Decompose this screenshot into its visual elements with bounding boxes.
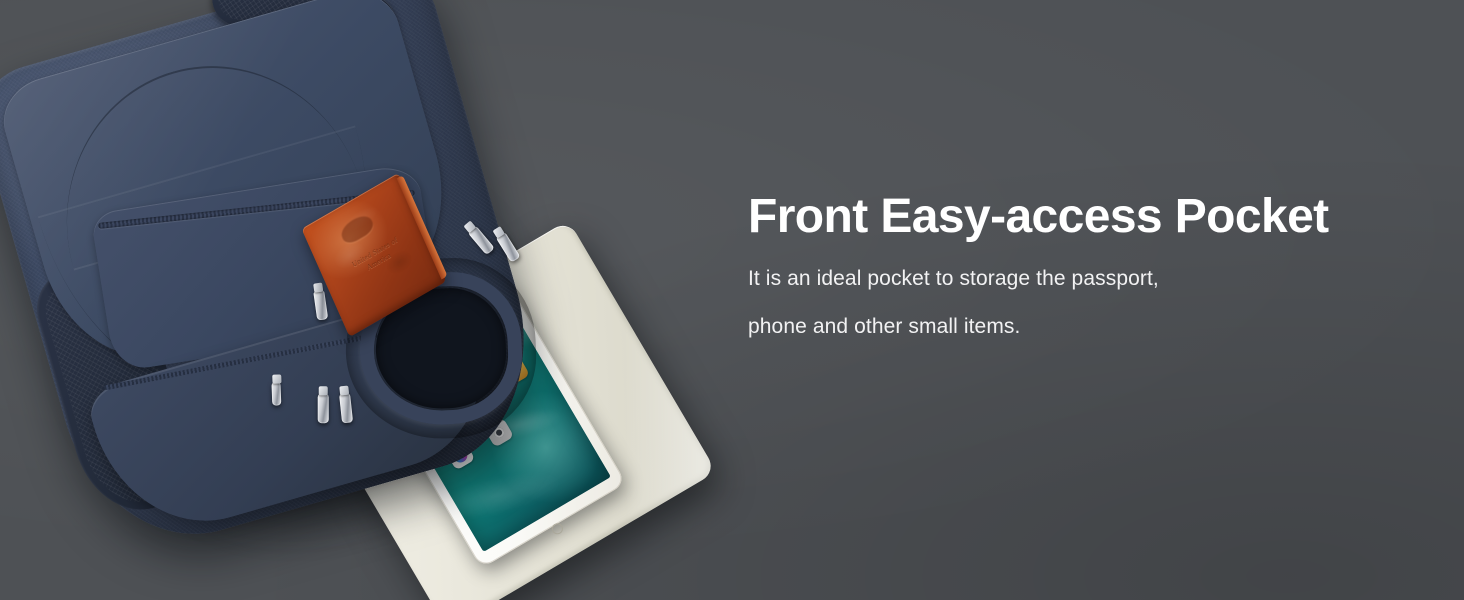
copy-block: Front Easy-access Pocket It is an ideal … xyxy=(748,186,1388,340)
description-line-1: It is an ideal pocket to storage the pas… xyxy=(748,266,1388,292)
zipper-pull-lower-a xyxy=(318,393,329,423)
zipper-pull-side xyxy=(271,381,281,405)
description: It is an ideal pocket to storage the pas… xyxy=(748,266,1388,340)
product-photo: United States of America xyxy=(0,0,732,600)
page-title: Front Easy-access Pocket xyxy=(748,186,1388,248)
product-feature-banner: United States of America Front Easy-acce… xyxy=(0,0,1464,600)
description-line-2: phone and other small items. xyxy=(748,314,1388,340)
